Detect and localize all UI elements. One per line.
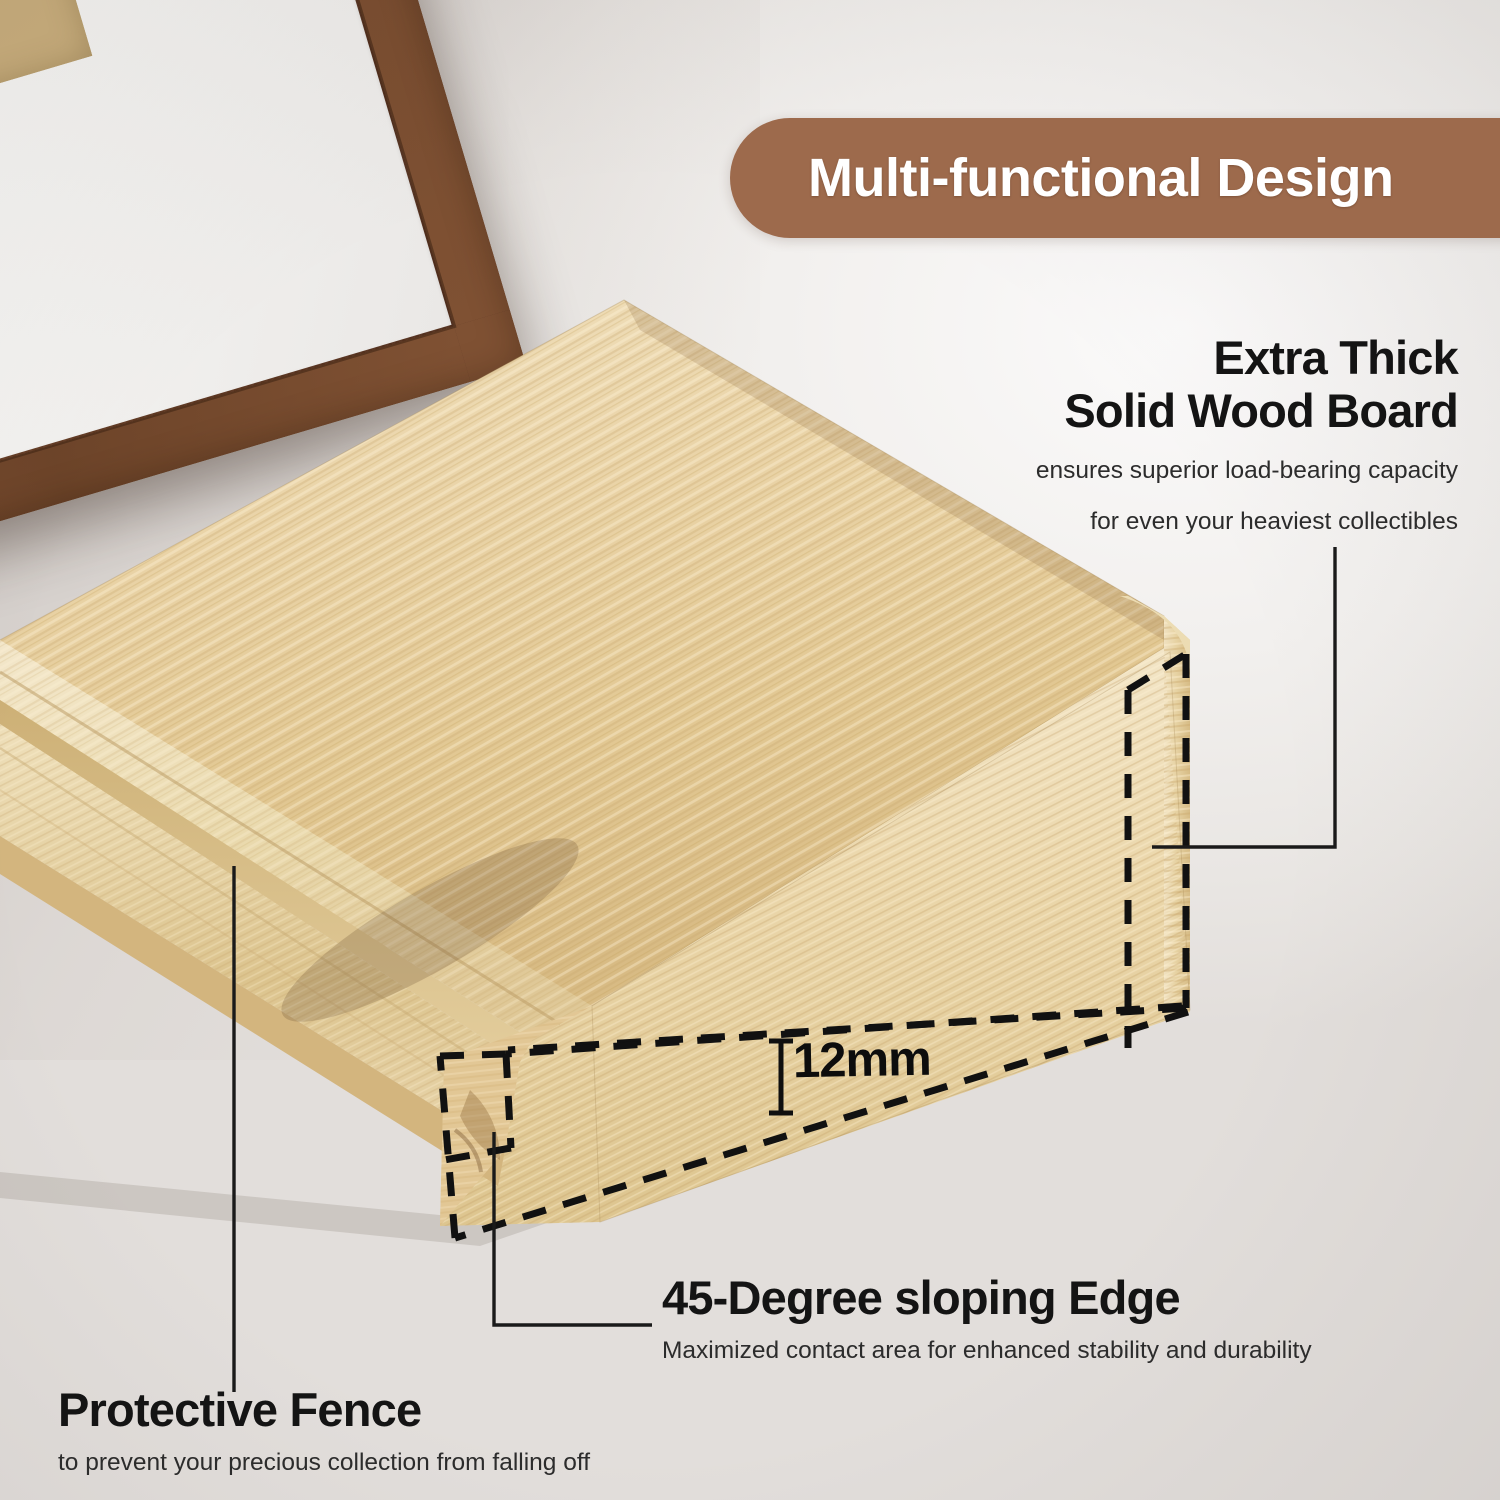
callout-extra-thick-title-line1: Extra Thick bbox=[1036, 332, 1458, 385]
dimension-label-12mm: 12mm bbox=[793, 1031, 932, 1089]
callout-protective-fence: Protective Fence to prevent your preciou… bbox=[58, 1384, 590, 1479]
header-banner-label: Multi-functional Design bbox=[808, 147, 1393, 209]
callout-extra-thick-sub-line1: ensures superior load-bearing capacity bbox=[1036, 455, 1458, 487]
callout-protective-fence-sub: to prevent your precious collection from… bbox=[58, 1447, 590, 1479]
callout-sloping-edge-title: 45-Degree sloping Edge bbox=[662, 1272, 1312, 1325]
callout-protective-fence-title: Protective Fence bbox=[58, 1384, 590, 1437]
callout-sloping-edge: 45-Degree sloping Edge Maximized contact… bbox=[662, 1272, 1312, 1367]
header-banner: Multi-functional Design bbox=[730, 118, 1500, 238]
callout-extra-thick-sub-line2: for even your heaviest collectibles bbox=[1036, 506, 1458, 538]
callout-extra-thick: Extra Thick Solid Wood Board ensures sup… bbox=[1036, 332, 1458, 538]
infographic-canvas: Multi-functional Design Extra Thick Soli… bbox=[0, 0, 1500, 1500]
callout-sloping-edge-sub: Maximized contact area for enhanced stab… bbox=[662, 1335, 1312, 1367]
callout-extra-thick-title-line2: Solid Wood Board bbox=[1036, 385, 1458, 438]
